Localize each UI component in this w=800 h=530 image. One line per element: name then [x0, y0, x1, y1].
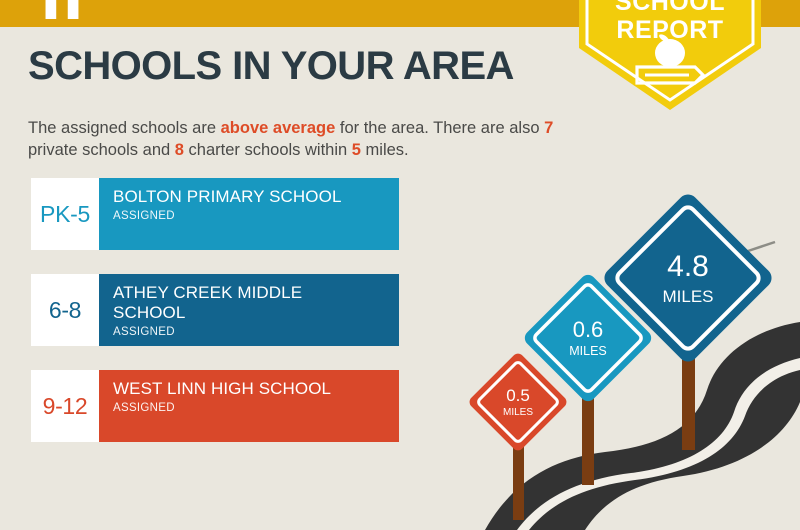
school-status-badge: ASSIGNED — [113, 210, 399, 222]
subtitle-highlight-private-count: 7 — [544, 119, 553, 137]
school-report-infographic: ▐▐ SCHOOL REPORT SCHOOLS IN YOUR AREA Th… — [0, 0, 800, 530]
school-grade-badge: PK-5 — [31, 178, 99, 250]
distance-sign-1-value: 0.5 — [506, 386, 530, 405]
subtitle-highlight-rating: above average — [221, 119, 336, 137]
school-list: PK-5 BOLTON PRIMARY SCHOOL ASSIGNED 6-8 … — [31, 178, 399, 466]
page-title: SCHOOLS IN YOUR AREA — [28, 46, 514, 86]
distance-sign-2-unit: MILES — [569, 344, 607, 358]
badge-title-line1: SCHOOL — [579, 0, 761, 17]
school-name: WEST LINN HIGH SCHOOL — [113, 379, 373, 399]
school-row[interactable]: 6-8 ATHEY CREEK MIDDLE SCHOOL ASSIGNED — [31, 274, 399, 346]
school-name: BOLTON PRIMARY SCHOOL — [113, 187, 373, 207]
subtitle-part5: miles. — [361, 141, 409, 159]
subtitle-highlight-charter-count: 8 — [175, 141, 184, 159]
school-details: BOLTON PRIMARY SCHOOL ASSIGNED — [99, 178, 399, 250]
distance-sign-1-unit: MILES — [503, 407, 533, 418]
subtitle-part1: The assigned schools are — [28, 119, 221, 137]
road-distance-illustration: 4.8 MILES 0.6 MILES 0.5 MILES — [455, 190, 800, 530]
school-grade-badge: 9-12 — [31, 370, 99, 442]
school-name: ATHEY CREEK MIDDLE SCHOOL — [113, 283, 373, 323]
school-details: ATHEY CREEK MIDDLE SCHOOL ASSIGNED — [99, 274, 399, 346]
school-row[interactable]: PK-5 BOLTON PRIMARY SCHOOL ASSIGNED — [31, 178, 399, 250]
distance-sign-2-value: 0.6 — [573, 317, 604, 342]
page-subtitle: The assigned schools are above average f… — [28, 117, 568, 161]
subtitle-part3: private schools and — [28, 141, 175, 159]
subtitle-part2: for the area. There are also — [335, 119, 544, 137]
subtitle-highlight-radius: 5 — [352, 141, 361, 159]
school-row[interactable]: 9-12 WEST LINN HIGH SCHOOL ASSIGNED — [31, 370, 399, 442]
badge-title-line2: REPORT — [579, 16, 761, 45]
subtitle-part4: charter schools within — [184, 141, 352, 159]
school-status-badge: ASSIGNED — [113, 402, 399, 414]
pause-bars-icon: ▐▐ — [35, 0, 67, 13]
school-report-badge: SCHOOL REPORT — [579, 0, 761, 110]
school-grade-badge: 6-8 — [31, 274, 99, 346]
distance-sign-3-value: 4.8 — [667, 250, 709, 283]
school-status-badge: ASSIGNED — [113, 326, 399, 338]
distance-sign-3-unit: MILES — [662, 287, 713, 306]
antenna-stick-icon — [745, 242, 775, 252]
school-details: WEST LINN HIGH SCHOOL ASSIGNED — [99, 370, 399, 442]
